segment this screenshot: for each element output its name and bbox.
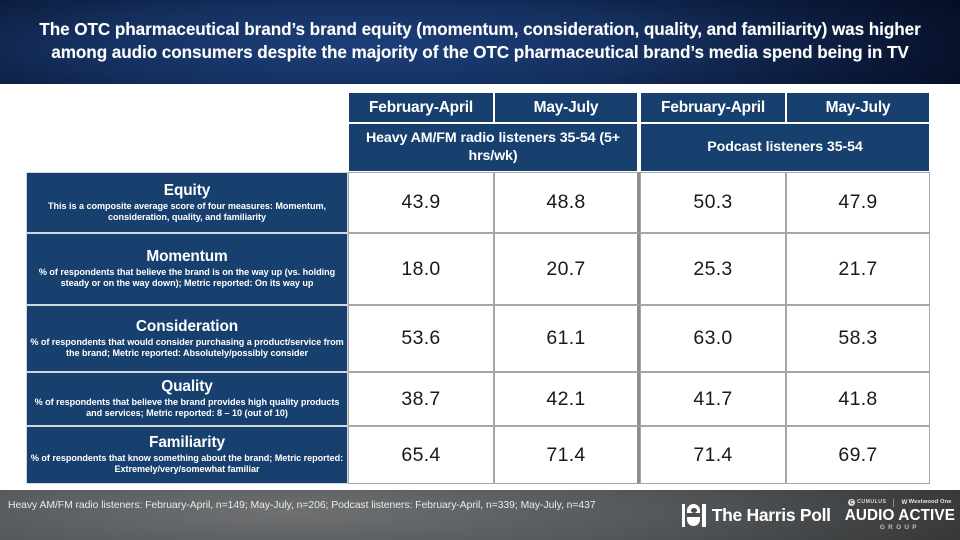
- metric-label-equity: Equity This is a composite average score…: [26, 172, 348, 233]
- audio-active-group-logo: C CUMULUS W Westwood One AUDIO ACTIVE GR…: [845, 498, 955, 531]
- header-period-radio-may-jul: May-July: [494, 92, 640, 123]
- value-familiarity-podcast-feb-apr: 71.4: [640, 426, 786, 484]
- metric-name: Familiarity: [27, 434, 347, 452]
- title-banner: The OTC pharmaceutical brand’s brand equ…: [0, 0, 960, 84]
- harris-poll-logo: The Harris Poll: [682, 504, 831, 527]
- header-corner-blank-2: [26, 123, 348, 172]
- main-content-area: February-April May-July February-April M…: [0, 84, 960, 490]
- header-period-podcast-may-jul: May-July: [786, 92, 930, 123]
- value-momentum-podcast-may-jul: 21.7: [786, 233, 930, 305]
- metric-description: % of respondents that believe the brand …: [27, 397, 347, 420]
- metric-label-familiarity: Familiarity % of respondents that know s…: [26, 426, 348, 484]
- harris-poll-icon: [682, 504, 706, 527]
- cumulus-circle-icon: C: [848, 499, 855, 506]
- value-familiarity-radio-may-jul: 71.4: [494, 426, 640, 484]
- value-equity-radio-may-jul: 48.8: [494, 172, 640, 233]
- table-row: Equity This is a composite average score…: [26, 172, 930, 233]
- value-quality-podcast-may-jul: 41.8: [786, 372, 930, 426]
- value-consideration-podcast-feb-apr: 63.0: [640, 305, 786, 372]
- harris-poll-logo-text: The Harris Poll: [712, 505, 831, 526]
- table-row: Familiarity % of respondents that know s…: [26, 426, 930, 484]
- metric-name: Momentum: [27, 248, 347, 266]
- metric-description: % of respondents that would consider pur…: [27, 337, 347, 360]
- cumulus-media-logo: C CUMULUS: [848, 499, 886, 506]
- value-familiarity-podcast-may-jul: 69.7: [786, 426, 930, 484]
- table-header-period-row: February-April May-July February-April M…: [26, 92, 930, 123]
- table-row: Quality % of respondents that believe th…: [26, 372, 930, 426]
- audio-active-partners: C CUMULUS W Westwood One: [848, 498, 951, 507]
- header-period-radio-feb-apr: February-April: [348, 92, 494, 123]
- value-equity-radio-feb-apr: 43.9: [348, 172, 494, 233]
- audio-active-subtitle: GROUP: [880, 525, 920, 531]
- metric-name: Consideration: [27, 318, 347, 336]
- value-familiarity-radio-feb-apr: 65.4: [348, 426, 494, 484]
- footer-band: Heavy AM/FM radio listeners: February-Ap…: [0, 490, 960, 540]
- metric-name: Quality: [27, 378, 347, 396]
- page-title: The OTC pharmaceutical brand’s brand equ…: [14, 18, 946, 63]
- westwood-mark-icon: W: [901, 500, 906, 506]
- value-momentum-radio-may-jul: 20.7: [494, 233, 640, 305]
- value-equity-podcast-feb-apr: 50.3: [640, 172, 786, 233]
- value-quality-radio-may-jul: 42.1: [494, 372, 640, 426]
- header-period-podcast-feb-apr: February-April: [640, 92, 786, 123]
- value-momentum-radio-feb-apr: 18.0: [348, 233, 494, 305]
- table-row: Momentum % of respondents that believe t…: [26, 233, 930, 305]
- logo-divider: [893, 499, 894, 507]
- cumulus-label: CUMULUS: [857, 500, 886, 505]
- value-equity-podcast-may-jul: 47.9: [786, 172, 930, 233]
- metric-label-consideration: Consideration % of respondents that woul…: [26, 305, 348, 372]
- value-quality-radio-feb-apr: 38.7: [348, 372, 494, 426]
- value-momentum-podcast-feb-apr: 25.3: [640, 233, 786, 305]
- metric-name: Equity: [27, 182, 347, 200]
- audio-active-title: AUDIO ACTIVE: [845, 508, 955, 524]
- westwood-one-logo: W Westwood One: [901, 500, 951, 506]
- value-consideration-radio-feb-apr: 53.6: [348, 305, 494, 372]
- header-group-heavy-amfm: Heavy AM/FM radio listeners 35-54 (5+ hr…: [348, 123, 640, 172]
- metric-description: This is a composite average score of fou…: [27, 201, 347, 224]
- table-row: Consideration % of respondents that woul…: [26, 305, 930, 372]
- value-consideration-radio-may-jul: 61.1: [494, 305, 640, 372]
- westwood-label: Westwood One: [909, 500, 952, 506]
- brand-equity-table: February-April May-July February-April M…: [26, 92, 930, 484]
- header-group-podcast: Podcast listeners 35-54: [640, 123, 930, 172]
- table-header-group-row: Heavy AM/FM radio listeners 35-54 (5+ hr…: [26, 123, 930, 172]
- metric-description: % of respondents that know something abo…: [27, 453, 347, 476]
- metric-description: % of respondents that believe the brand …: [27, 267, 347, 290]
- footnote-sample-sizes: Heavy AM/FM radio listeners: February-Ap…: [8, 499, 628, 514]
- value-consideration-podcast-may-jul: 58.3: [786, 305, 930, 372]
- footer-logos: The Harris Poll C CUMULUS W Westwood One…: [682, 496, 955, 534]
- metric-label-quality: Quality % of respondents that believe th…: [26, 372, 348, 426]
- header-corner-blank: [26, 92, 348, 123]
- metric-label-momentum: Momentum % of respondents that believe t…: [26, 233, 348, 305]
- value-quality-podcast-feb-apr: 41.7: [640, 372, 786, 426]
